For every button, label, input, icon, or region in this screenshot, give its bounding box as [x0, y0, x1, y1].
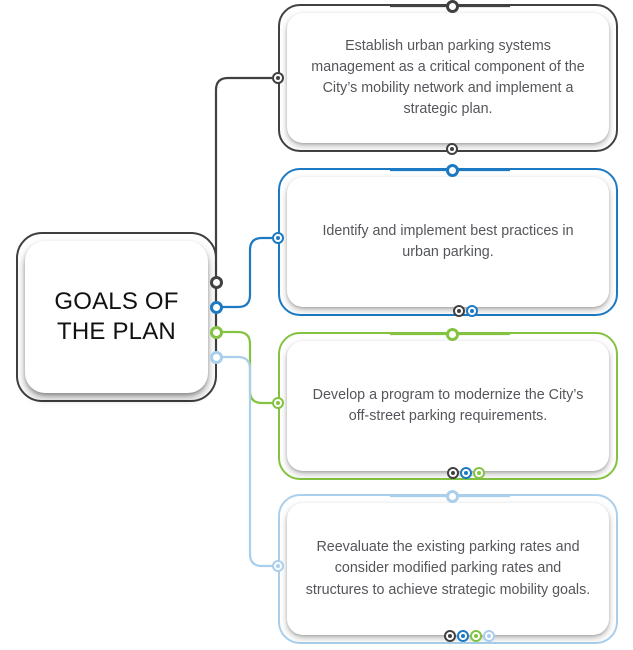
goal-4-bottom-dot-blue-icon[interactable] [457, 630, 469, 642]
center-node[interactable]: GOALS OF THE PLAN [16, 232, 217, 402]
connector-goal-3 [216, 332, 278, 403]
goal-4-bottom-dot-dark-icon[interactable] [444, 630, 456, 642]
connector-goal-1 [216, 78, 278, 282]
center-port-light-blue-icon[interactable] [210, 351, 223, 364]
goal-node-2[interactable]: Identify and implement best practices in… [278, 168, 618, 316]
goal-4-bottom-dot-light-blue-icon[interactable] [483, 630, 495, 642]
goal-2-top-port-icon[interactable] [446, 164, 459, 177]
goal-3-bottom-dot-blue-icon[interactable] [460, 467, 472, 479]
goal-node-4-card: Reevaluate the existing parking rates an… [287, 503, 609, 635]
goal-1-left-port-icon[interactable] [272, 72, 284, 84]
goal-2-bottom-dot-blue-icon[interactable] [466, 305, 478, 317]
center-label-line-2: THE PLAN [57, 318, 176, 345]
center-port-blue-icon[interactable] [210, 301, 223, 314]
goal-4-left-port-icon[interactable] [272, 560, 284, 572]
goal-4-bottom-dot-green-icon[interactable] [470, 630, 482, 642]
goal-node-3-text: Develop a program to modernize the City’… [303, 385, 593, 427]
goal-4-top-port-icon[interactable] [446, 490, 459, 503]
goal-node-3[interactable]: Develop a program to modernize the City’… [278, 332, 618, 480]
goal-node-4[interactable]: Reevaluate the existing parking rates an… [278, 494, 618, 644]
goal-1-bottom-dot-dark-icon[interactable] [446, 143, 458, 155]
connector-goal-2 [216, 238, 278, 307]
goal-node-2-card: Identify and implement best practices in… [287, 177, 609, 307]
goal-node-1-text: Establish urban parking systems manageme… [303, 36, 593, 121]
goal-3-top-port-icon[interactable] [446, 328, 459, 341]
goal-node-1[interactable]: Establish urban parking systems manageme… [278, 4, 618, 152]
goal-node-2-text: Identify and implement best practices in… [303, 221, 593, 263]
center-node-card: GOALS OF THE PLAN [25, 241, 208, 393]
goal-node-4-text: Reevaluate the existing parking rates an… [303, 537, 593, 600]
center-port-green-icon[interactable] [210, 326, 223, 339]
goal-3-bottom-dot-dark-icon[interactable] [447, 467, 459, 479]
center-node-label: GOALS OF THE PLAN [44, 287, 188, 347]
center-port-dark-icon[interactable] [210, 276, 223, 289]
connector-goal-4 [216, 357, 278, 566]
goal-node-1-card: Establish urban parking systems manageme… [287, 13, 609, 143]
goal-2-bottom-dot-dark-icon[interactable] [453, 305, 465, 317]
goal-node-3-card: Develop a program to modernize the City’… [287, 341, 609, 471]
goal-3-bottom-dot-green-icon[interactable] [473, 467, 485, 479]
center-label-line-1: GOALS OF [54, 288, 178, 315]
goal-2-left-port-icon[interactable] [272, 232, 284, 244]
goal-3-left-port-icon[interactable] [272, 397, 284, 409]
goal-1-top-port-icon[interactable] [446, 0, 459, 13]
diagram-canvas: GOALS OF THE PLAN Establish urban parkin… [0, 0, 633, 650]
